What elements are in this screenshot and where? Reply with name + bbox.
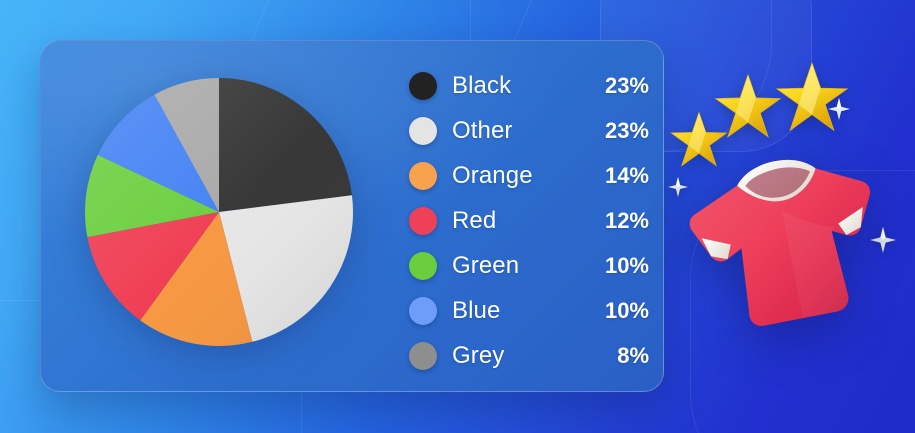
legend-value-blue: 10% (605, 298, 649, 324)
legend-row-green[interactable]: Green10% (409, 243, 649, 288)
legend-row-grey[interactable]: Grey8% (409, 333, 649, 378)
legend-row-black[interactable]: Black23% (409, 63, 649, 108)
legend-value-other: 23% (605, 118, 649, 144)
pie-chart (84, 77, 354, 347)
legend-label-green: Green (452, 252, 605, 280)
legend-label-orange: Orange (452, 162, 605, 190)
red-tshirt-icon (680, 132, 895, 347)
legend-swatch-blue (409, 297, 437, 325)
pie-chart-svg (84, 77, 354, 347)
legend-label-grey: Grey (452, 342, 617, 370)
chart-legend: Black23%Other23%Orange14%Red12%Green10%B… (409, 63, 649, 378)
pie-slice-black[interactable] (219, 78, 352, 212)
legend-label-red: Red (452, 207, 605, 235)
legend-value-orange: 14% (605, 163, 649, 189)
legend-swatch-black (409, 72, 437, 100)
legend-swatch-orange (409, 162, 437, 190)
tshirt-illustration (660, 52, 915, 382)
legend-swatch-green (409, 252, 437, 280)
legend-swatch-other (409, 117, 437, 145)
legend-value-black: 23% (605, 73, 649, 99)
legend-row-other[interactable]: Other23% (409, 108, 649, 153)
legend-value-grey: 8% (617, 343, 649, 369)
legend-swatch-red (409, 207, 437, 235)
legend-label-blue: Blue (452, 297, 605, 325)
legend-label-other: Other (452, 117, 605, 145)
legend-row-orange[interactable]: Orange14% (409, 153, 649, 198)
legend-swatch-grey (409, 342, 437, 370)
poster-canvas: Black23%Other23%Orange14%Red12%Green10%B… (0, 0, 915, 433)
legend-value-red: 12% (605, 208, 649, 234)
legend-value-green: 10% (605, 253, 649, 279)
legend-label-black: Black (452, 72, 605, 100)
legend-row-red[interactable]: Red12% (409, 198, 649, 243)
chart-card: Black23%Other23%Orange14%Red12%Green10%B… (40, 40, 664, 392)
silver-sparkle-1-icon (828, 98, 850, 120)
legend-row-blue[interactable]: Blue10% (409, 288, 649, 333)
